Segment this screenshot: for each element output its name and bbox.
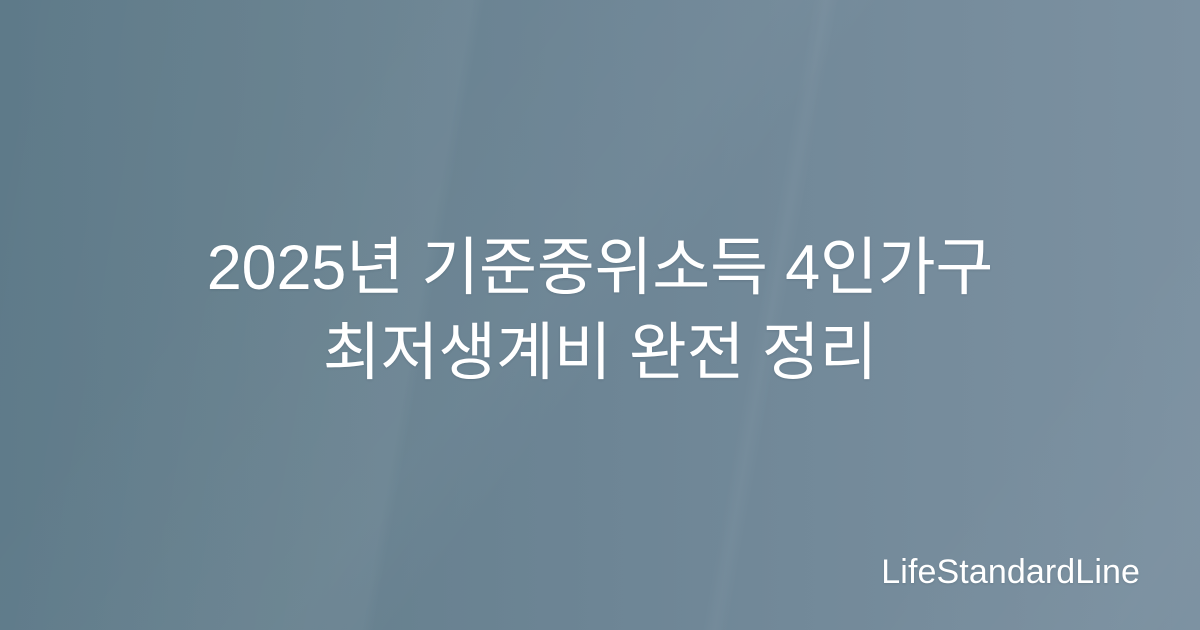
page-title: 2025년 기준중위소득 4인가구 최저생계비 완전 정리 [96, 226, 1104, 396]
site-watermark: LifeStandardLine [881, 552, 1140, 592]
title-container: 2025년 기준중위소득 4인가구 최저생계비 완전 정리 [0, 0, 1200, 630]
og-image-card: 2025년 기준중위소득 4인가구 최저생계비 완전 정리 LifeStanda… [0, 0, 1200, 630]
